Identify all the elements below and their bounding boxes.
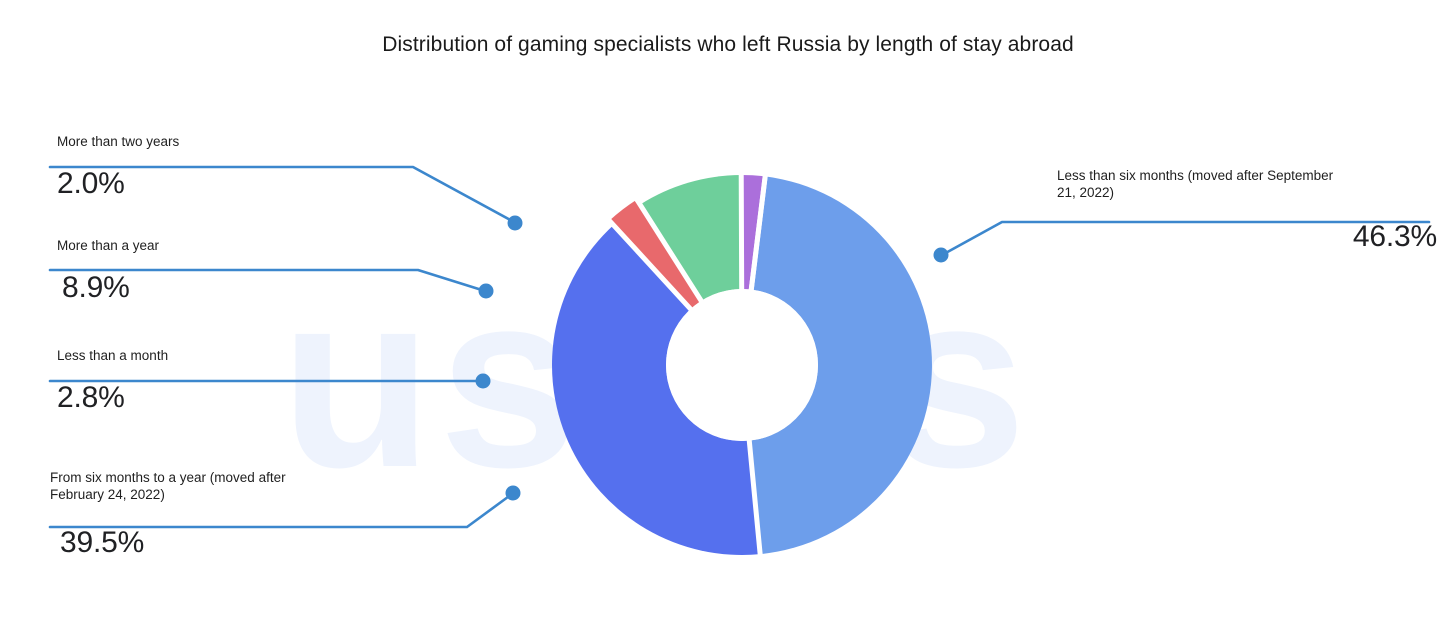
- callout-less-than-six-months[interactable]: Less than six months (moved after Septem…: [1057, 167, 1437, 256]
- callout-label-less-than-six-months-line1: Less than six months (moved after Septem…: [1057, 167, 1437, 184]
- callout-six-months-to-a-year[interactable]: From six months to a year (moved after F…: [50, 469, 470, 562]
- callout-label-six-months-to-a-year-line2: February 24, 2022): [50, 486, 470, 503]
- callout-more-than-a-year[interactable]: More than a year 8.9%: [57, 237, 417, 307]
- callout-more-than-two-years[interactable]: More than two years 2.0%: [57, 133, 417, 203]
- callout-less-than-a-month[interactable]: Less than a month 2.8%: [57, 347, 487, 417]
- chart-title: Distribution of gaming specialists who l…: [0, 33, 1456, 57]
- callout-label-less-than-a-month: Less than a month: [57, 347, 487, 364]
- callout-value-six-months-to-a-year: 39.5%: [50, 524, 470, 562]
- callout-value-less-than-a-month: 2.8%: [57, 379, 487, 417]
- callout-label-more-than-two-years: More than two years: [57, 133, 417, 150]
- callout-label-less-than-six-months-line2: 21, 2022): [1057, 184, 1437, 201]
- chart-page: uswrs Distribution of gaming specialists…: [0, 0, 1456, 635]
- callout-value-more-than-two-years: 2.0%: [57, 165, 417, 203]
- donut-hole: [666, 289, 818, 441]
- callout-label-more-than-a-year: More than a year: [57, 237, 417, 254]
- callout-value-more-than-a-year: 8.9%: [57, 269, 417, 307]
- callout-label-six-months-to-a-year-line1: From six months to a year (moved after: [50, 469, 470, 486]
- callout-value-less-than-six-months: 46.3%: [1057, 218, 1437, 256]
